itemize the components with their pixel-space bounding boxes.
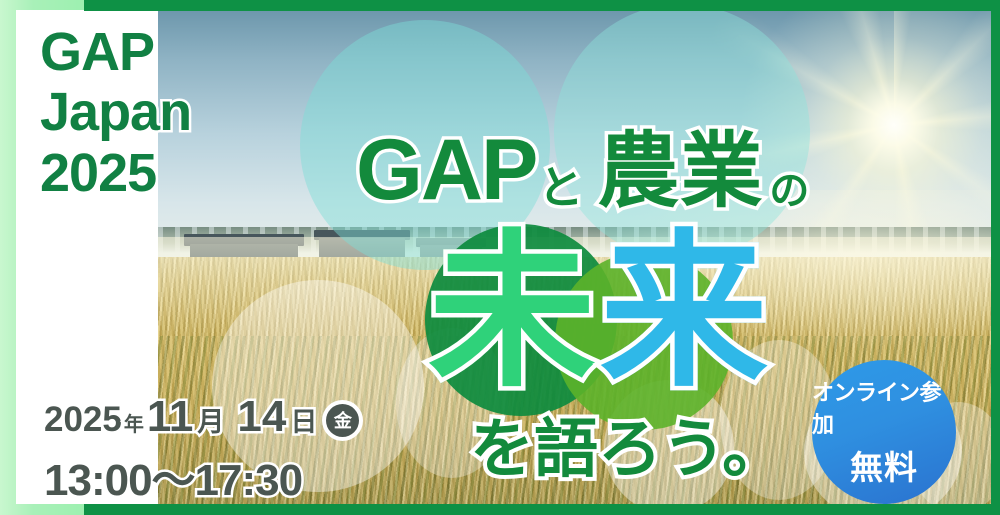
date-year-unit: 年 xyxy=(124,408,144,437)
headline-particle-no: の xyxy=(769,158,809,216)
headline-mirai: 未来 xyxy=(428,228,768,396)
badge-line-2: 無料 xyxy=(850,441,918,489)
date-month-unit: 月 xyxy=(197,400,224,439)
date-weekday-badge: 金 xyxy=(326,404,359,437)
headline-tail: を語ろう。 xyxy=(470,398,786,490)
brand-title: GAP Japan 2025 xyxy=(40,22,191,203)
online-free-badge: オンライン参加 無料 xyxy=(812,360,956,504)
date-day-unit: 日 xyxy=(290,400,317,439)
brand-line-3: 2025 xyxy=(40,143,191,203)
date-year: 2025 xyxy=(44,400,122,440)
brand-line-2: Japan xyxy=(40,82,191,142)
date-day: 14 xyxy=(237,392,286,442)
date-month: 11 xyxy=(147,392,194,442)
event-time: 13:00〜17:30 xyxy=(44,444,359,508)
frame-top-border xyxy=(84,0,1000,11)
headline-nougyou: 農業 xyxy=(597,104,763,223)
event-date-block: 2025 年 11 月 14 日 金 13:00〜17:30 xyxy=(44,392,359,508)
brand-line-1: GAP xyxy=(40,22,191,82)
headline-line-1: GAP と 農業 の xyxy=(356,104,809,223)
event-banner: GAP Japan 2025 GAP と 農業 の 未来 を語ろう。 2025 … xyxy=(0,0,1000,515)
headline-particle-to: と xyxy=(538,151,583,216)
frame-right-border xyxy=(991,0,1000,515)
badge-line-1: オンライン参加 xyxy=(812,375,956,439)
headline-gap: GAP xyxy=(356,121,536,220)
kanji-rai: 来 xyxy=(600,228,768,396)
kanji-mi: 未 xyxy=(428,228,596,396)
event-date-line: 2025 年 11 月 14 日 金 xyxy=(44,392,359,442)
